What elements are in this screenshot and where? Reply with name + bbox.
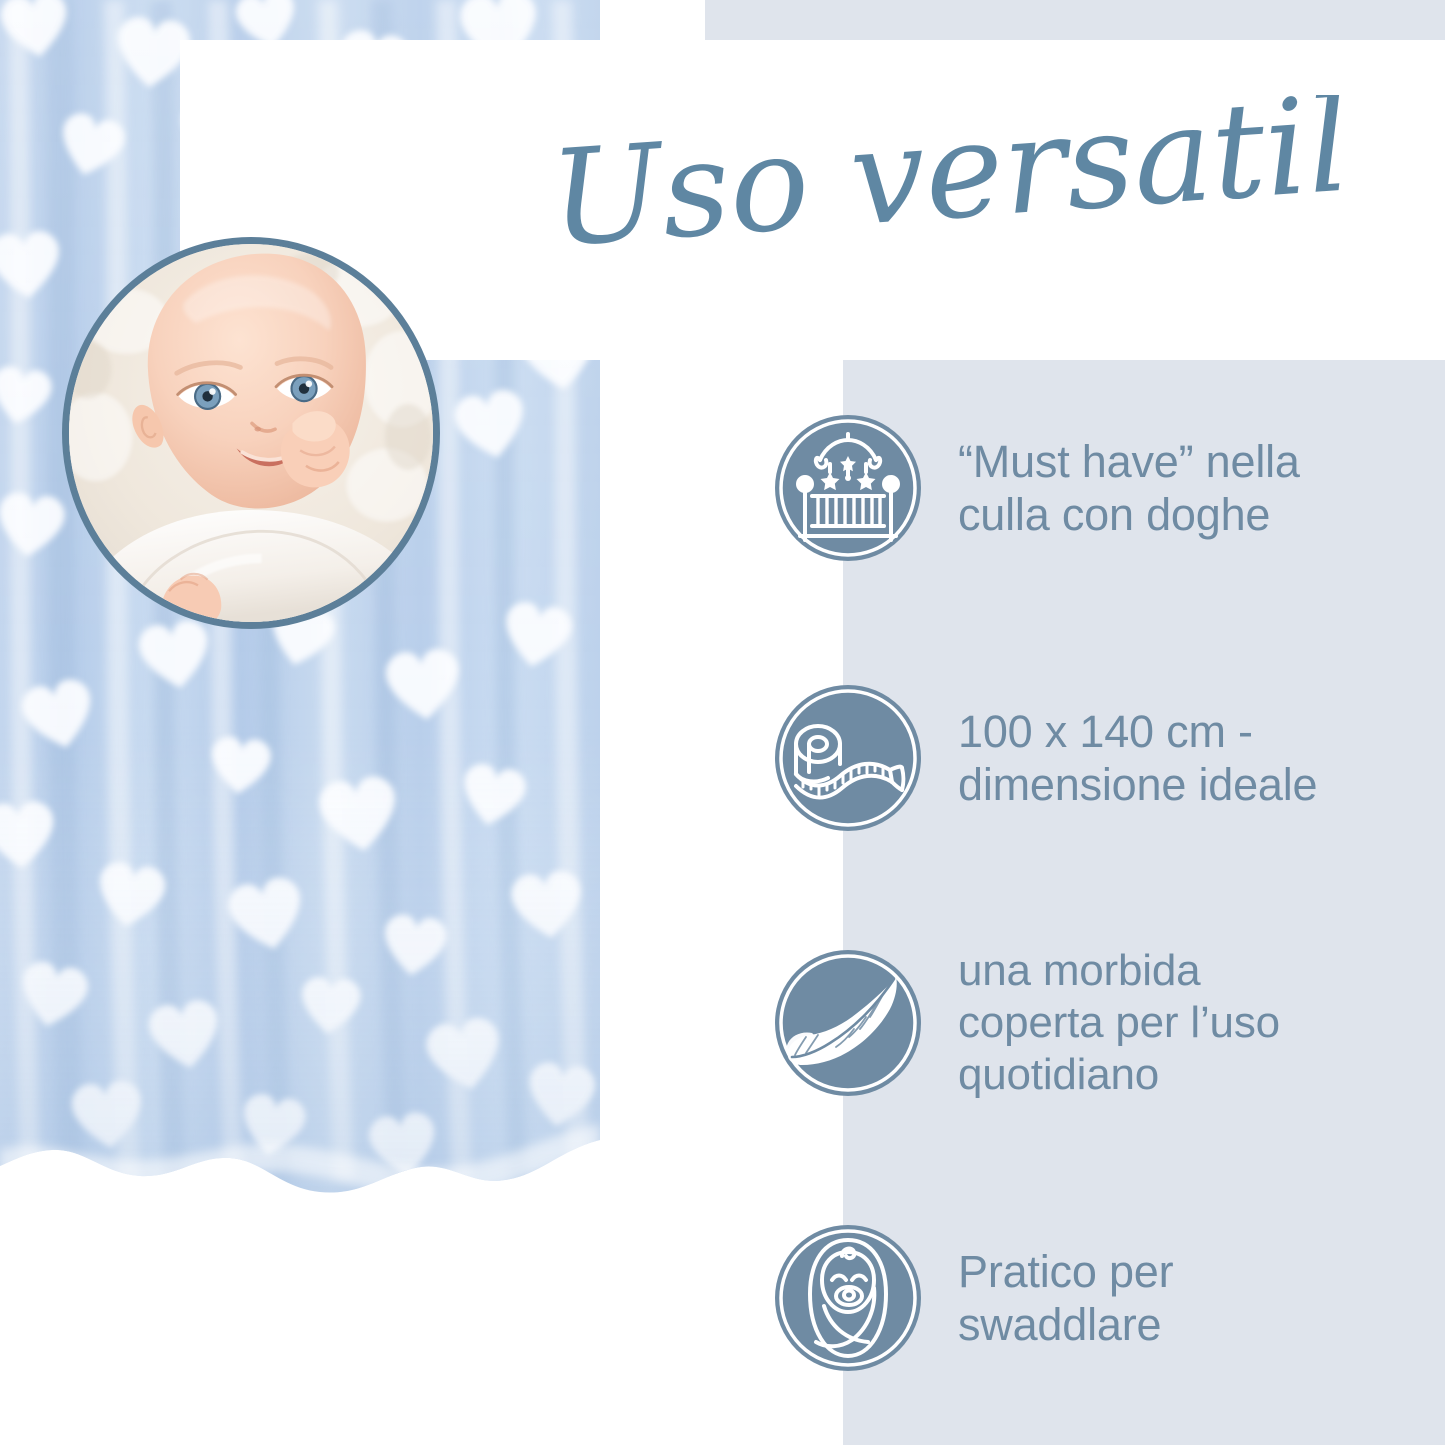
feature-label-swaddle: Pratico per swaddlare [958,1245,1173,1351]
infographic-canvas: Uso versatile [0,0,1445,1445]
feature-row-soft: una morbida coperta per l’uso quotidiano [772,945,1412,1101]
swaddled-baby-icon [772,1222,924,1374]
page-title-text: Uso versatile [545,95,1340,277]
page-title: Uso versatile [540,95,1340,305]
feature-label-soft: una morbida coperta per l’uso quotidiano [958,945,1280,1101]
crib-icon [772,412,924,564]
feature-row-crib: “Must have” nella culla con doghe [772,412,1412,564]
baby-photo-circle [62,237,440,629]
measuring-tape-icon [772,682,924,834]
feature-row-swaddle: Pratico per swaddlare [772,1222,1412,1374]
feather-icon [772,947,924,1099]
feature-label-size: 100 x 140 cm - dimensione ideale [958,705,1317,811]
feature-label-crib: “Must have” nella culla con doghe [958,435,1300,541]
feature-row-size: 100 x 140 cm - dimensione ideale [772,682,1412,834]
